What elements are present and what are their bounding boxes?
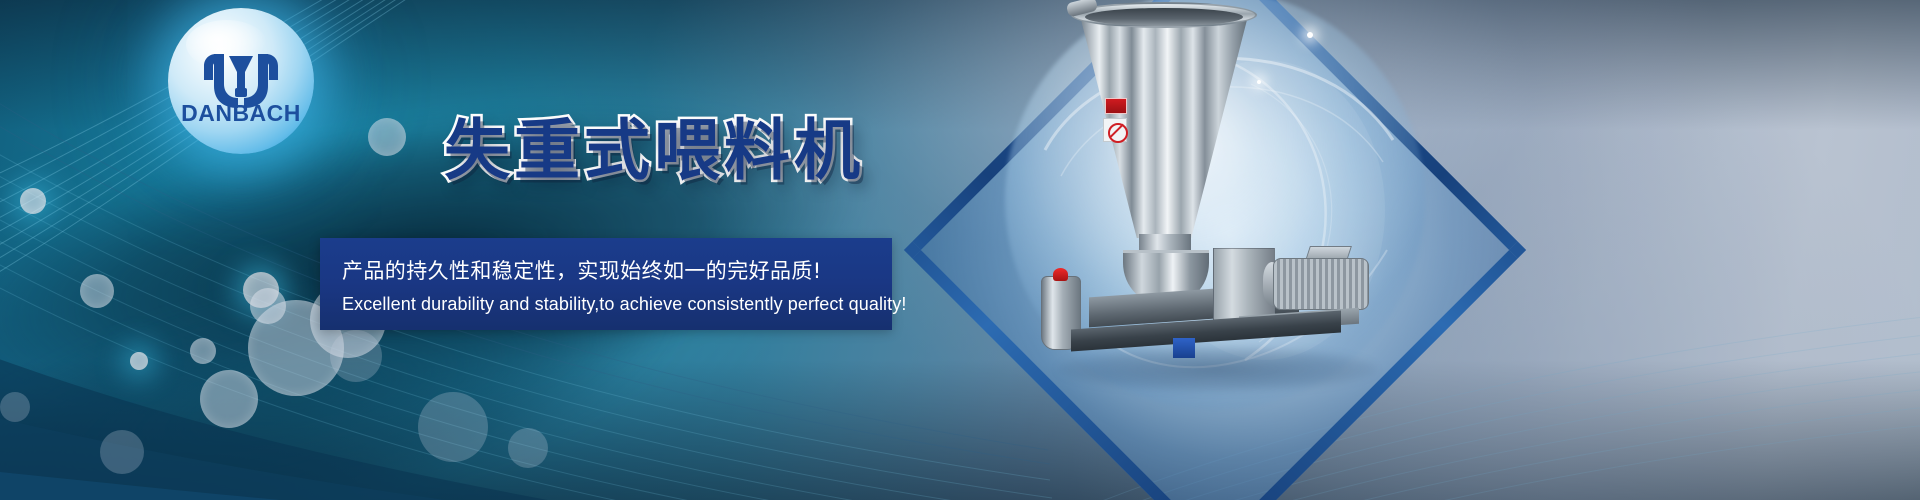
decor-bubble (0, 392, 30, 422)
decor-bubble (418, 392, 488, 462)
loss-in-weight-feeder-photo (1027, 0, 1427, 410)
red-warning-label (1105, 98, 1127, 114)
decor-bubble (20, 188, 46, 214)
cylinder-red-knob (1053, 268, 1068, 281)
decor-bubble (80, 274, 114, 308)
decor-bubble (200, 370, 258, 428)
page-title: 失重式喂料机 (444, 118, 864, 184)
machine-shadow (1057, 346, 1377, 392)
gear-motor (1273, 258, 1369, 310)
decor-bubble (250, 288, 286, 324)
decor-bubble (368, 118, 406, 156)
decor-bubble (330, 330, 382, 382)
decor-bubble (100, 430, 144, 474)
decor-bubble (130, 352, 148, 370)
caption-english: Excellent durability and stability,to ac… (342, 294, 892, 315)
caption-chinese: 产品的持久性和稳定性，实现始终如一的完好品质! (342, 255, 892, 285)
decor-bubble (190, 338, 216, 364)
blue-base-marker (1173, 338, 1195, 358)
no-entry-warning-sticker (1103, 118, 1127, 142)
product-banner: DANBACH 失重式喂料机 产品的持久性和稳定性，实现始终如一的完好品质! E… (0, 0, 1920, 500)
product-showcase (905, 0, 1525, 500)
caption-box: 产品的持久性和稳定性，实现始终如一的完好品质! Excellent durabi… (320, 238, 892, 330)
hopper-opening (1085, 8, 1243, 26)
brand-logo[interactable]: DANBACH (168, 8, 314, 154)
decor-bubble (508, 428, 548, 468)
brand-name: DANBACH (168, 100, 314, 127)
